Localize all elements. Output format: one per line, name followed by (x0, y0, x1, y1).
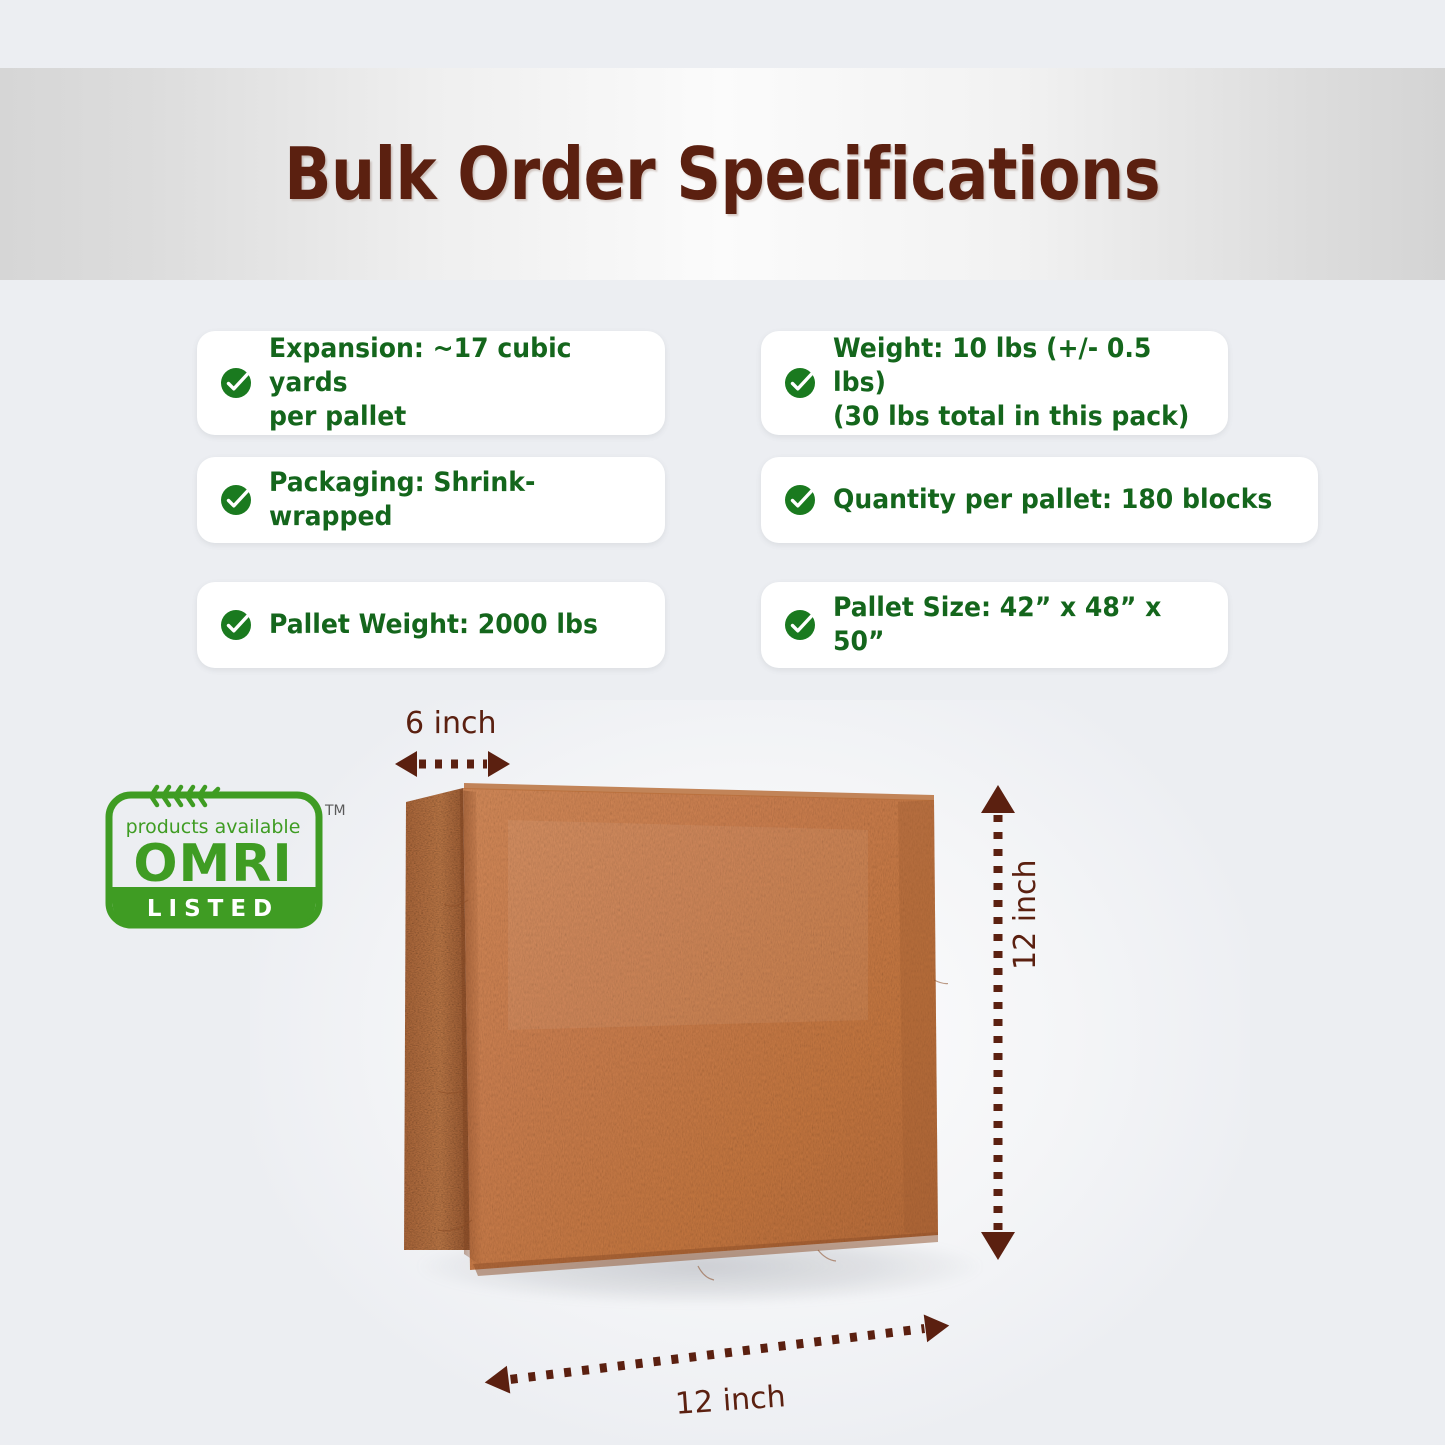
check-circle-icon (783, 608, 817, 642)
double-arrow-horizontal-icon (483, 1318, 951, 1390)
check-circle-icon (783, 483, 817, 517)
dimension-label-width: 6 inch (405, 706, 496, 741)
check-circle-icon (219, 483, 253, 517)
spec-card-label: Packaging: Shrink-wrapped (269, 466, 637, 534)
spec-card-pallet-weight[interactable]: Pallet Weight: 2000 lbs (197, 582, 665, 668)
check-circle-icon (219, 608, 253, 642)
spec-card-label: Expansion: ~17 cubic yards per pallet (269, 332, 637, 434)
header-band: Bulk Order Specifications (0, 68, 1445, 280)
spec-card-label: Weight: 10 lbs (+/- 0.5 lbs) (30 lbs tot… (833, 332, 1200, 434)
spec-card-weight[interactable]: Weight: 10 lbs (+/- 0.5 lbs) (30 lbs tot… (761, 331, 1228, 435)
spec-card-label: Quantity per pallet: 180 blocks (833, 483, 1272, 517)
double-arrow-horizontal-icon (395, 748, 510, 780)
spec-card-label: Pallet Size: 42” x 48” x 50” (833, 591, 1200, 659)
spec-card-pallet-size[interactable]: Pallet Size: 42” x 48” x 50” (761, 582, 1228, 668)
check-circle-icon (219, 366, 253, 400)
spec-card-packaging[interactable]: Packaging: Shrink-wrapped (197, 457, 665, 543)
spec-card-label: Pallet Weight: 2000 lbs (269, 608, 598, 642)
page-title: Bulk Order Specifications (285, 132, 1161, 216)
coir-block-image (398, 780, 948, 1290)
spec-card-grid: Expansion: ~17 cubic yards per pallet We… (0, 325, 1445, 680)
spec-card-expansion[interactable]: Expansion: ~17 cubic yards per pallet (197, 331, 665, 435)
svg-text:OMRI: OMRI (133, 834, 292, 894)
omri-listed-logo: products available OMRI LISTED TM (105, 783, 345, 935)
check-circle-icon (783, 366, 817, 400)
double-arrow-vertical-icon (975, 785, 1021, 1260)
svg-text:LISTED: LISTED (147, 896, 279, 922)
spec-card-quantity[interactable]: Quantity per pallet: 180 blocks (761, 457, 1318, 543)
svg-text:TM: TM (324, 803, 345, 819)
